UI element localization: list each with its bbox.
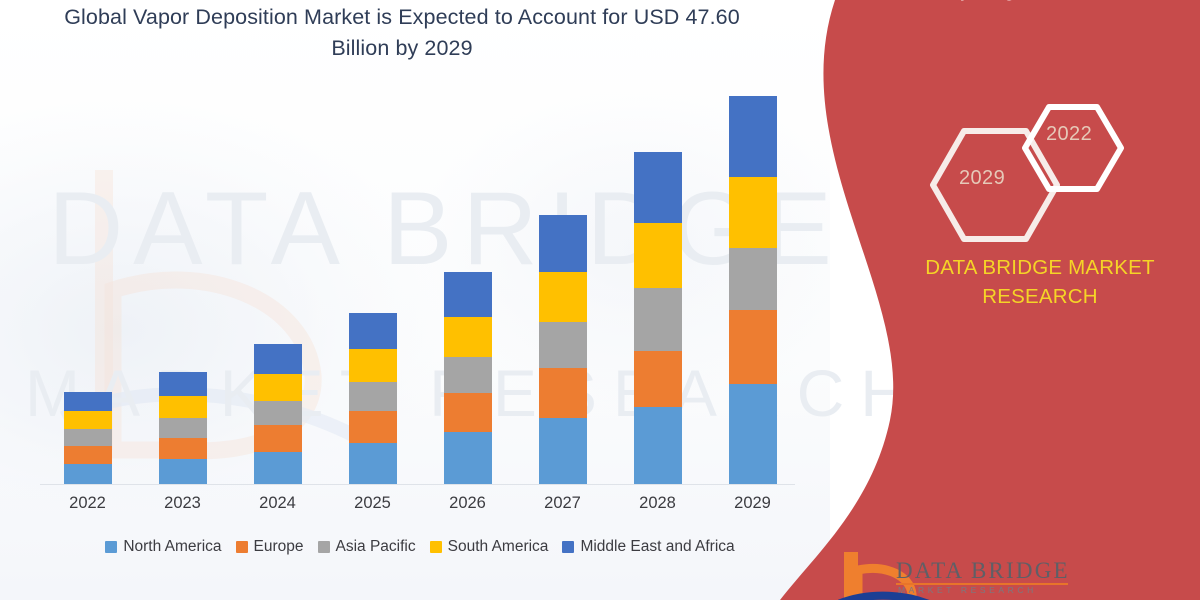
legend-item-asia-pacific[interactable]: Asia Pacific [318, 538, 416, 556]
bar-2024[interactable] [254, 344, 302, 485]
brand-name: DATA BRIDGE MARKET RESEARCH [890, 253, 1190, 311]
bar-segment-europe[interactable] [159, 438, 207, 459]
bar-segment-middle-east-and-africa[interactable] [729, 96, 777, 177]
bar-2027[interactable] [539, 215, 587, 486]
legend-label: North America [123, 538, 221, 556]
bar-segment-north-america[interactable] [634, 407, 682, 485]
brand-name-line-1: DATA BRIDGE MARKET [890, 253, 1190, 282]
bar-segment-south-america[interactable] [254, 374, 302, 401]
bar-segment-asia-pacific[interactable] [254, 401, 302, 426]
bar-2029[interactable] [729, 96, 777, 485]
x-axis-line [40, 484, 795, 485]
bar-segment-asia-pacific[interactable] [64, 429, 112, 445]
panel-title: Market, By Regions, 2022 to 2029 [852, 0, 1188, 5]
legend-swatch-icon [105, 541, 117, 553]
bar-segment-north-america[interactable] [444, 432, 492, 485]
bar-segment-middle-east-and-africa[interactable] [444, 272, 492, 317]
bar-segment-middle-east-and-africa[interactable] [634, 152, 682, 223]
hexagon-2022-label: 2022 [1046, 123, 1092, 146]
legend-swatch-icon [236, 541, 248, 553]
bar-2026[interactable] [444, 272, 492, 485]
legend-label: South America [448, 538, 549, 556]
bar-segment-north-america[interactable] [349, 443, 397, 485]
bar-segment-south-america[interactable] [349, 349, 397, 382]
bar-segment-asia-pacific[interactable] [729, 248, 777, 309]
bar-segment-europe[interactable] [64, 446, 112, 464]
bar-2028[interactable] [634, 152, 682, 485]
bar-2022[interactable] [64, 392, 112, 485]
hexagon-badges: 2029 2022 [915, 90, 1185, 280]
bar-segment-asia-pacific[interactable] [159, 418, 207, 438]
corner-logo: DATA BRIDGE MARKET RESEARCH [838, 552, 1168, 600]
bar-segment-north-america[interactable] [539, 418, 587, 485]
bar-segment-europe[interactable] [729, 310, 777, 385]
x-tick-2028: 2028 [618, 494, 698, 513]
legend-label: Asia Pacific [336, 538, 416, 556]
chart-legend: North AmericaEuropeAsia PacificSouth Ame… [40, 538, 800, 556]
legend-item-south-america[interactable]: South America [430, 538, 549, 556]
bar-segment-asia-pacific[interactable] [539, 322, 587, 368]
corner-logo-text: DATA BRIDGE [896, 558, 1070, 584]
bar-segment-europe[interactable] [349, 411, 397, 443]
legend-swatch-icon [562, 541, 574, 553]
bar-segment-middle-east-and-africa[interactable] [159, 372, 207, 396]
x-tick-2022: 2022 [48, 494, 128, 513]
bar-2025[interactable] [349, 313, 397, 485]
bar-segment-asia-pacific[interactable] [444, 357, 492, 393]
bar-segment-europe[interactable] [634, 351, 682, 407]
bar-segment-middle-east-and-africa[interactable] [254, 344, 302, 373]
bar-segment-south-america[interactable] [64, 411, 112, 429]
bar-segment-south-america[interactable] [634, 223, 682, 288]
bar-segment-north-america[interactable] [729, 384, 777, 485]
brand-name-line-2: RESEARCH [890, 282, 1190, 311]
legend-item-middle-east-and-africa[interactable]: Middle East and Africa [562, 538, 734, 556]
legend-item-europe[interactable]: Europe [236, 538, 304, 556]
bar-segment-north-america[interactable] [64, 464, 112, 485]
infographic-canvas: DATA BRIDGE MARKET RESEARCH Global Vapor… [0, 0, 1200, 600]
legend-label: Middle East and Africa [580, 538, 734, 556]
bar-segment-asia-pacific[interactable] [634, 288, 682, 351]
bar-segment-middle-east-and-africa[interactable] [64, 392, 112, 412]
legend-swatch-icon [318, 541, 330, 553]
bar-segment-asia-pacific[interactable] [349, 382, 397, 411]
bar-segment-south-america[interactable] [729, 177, 777, 248]
bar-segment-europe[interactable] [539, 368, 587, 418]
hexagon-2022-icon [1025, 107, 1121, 189]
bar-segment-south-america[interactable] [539, 272, 587, 323]
x-tick-2023: 2023 [143, 494, 223, 513]
legend-label: Europe [254, 538, 304, 556]
bar-segment-south-america[interactable] [444, 317, 492, 357]
bar-segment-middle-east-and-africa[interactable] [349, 313, 397, 349]
bar-segment-europe[interactable] [254, 425, 302, 451]
hexagon-2029-label: 2029 [959, 167, 1005, 190]
bar-segment-middle-east-and-africa[interactable] [539, 215, 587, 272]
x-tick-2029: 2029 [713, 494, 793, 513]
x-tick-2024: 2024 [238, 494, 318, 513]
bar-segment-europe[interactable] [444, 393, 492, 432]
bar-segment-north-america[interactable] [254, 452, 302, 486]
x-tick-2026: 2026 [428, 494, 508, 513]
legend-item-north-america[interactable]: North America [105, 538, 221, 556]
page-title: Global Vapor Deposition Market is Expect… [52, 2, 752, 64]
bar-segment-north-america[interactable] [159, 459, 207, 485]
corner-logo-subtext: MARKET RESEARCH [898, 585, 1037, 595]
bar-segment-south-america[interactable] [159, 396, 207, 418]
legend-swatch-icon [430, 541, 442, 553]
x-axis-tick-labels: 20222023202420252026202720282029 [40, 494, 800, 524]
x-tick-2025: 2025 [333, 494, 413, 513]
chart-plot-area [40, 95, 800, 485]
bar-2023[interactable] [159, 372, 207, 485]
x-tick-2027: 2027 [523, 494, 603, 513]
